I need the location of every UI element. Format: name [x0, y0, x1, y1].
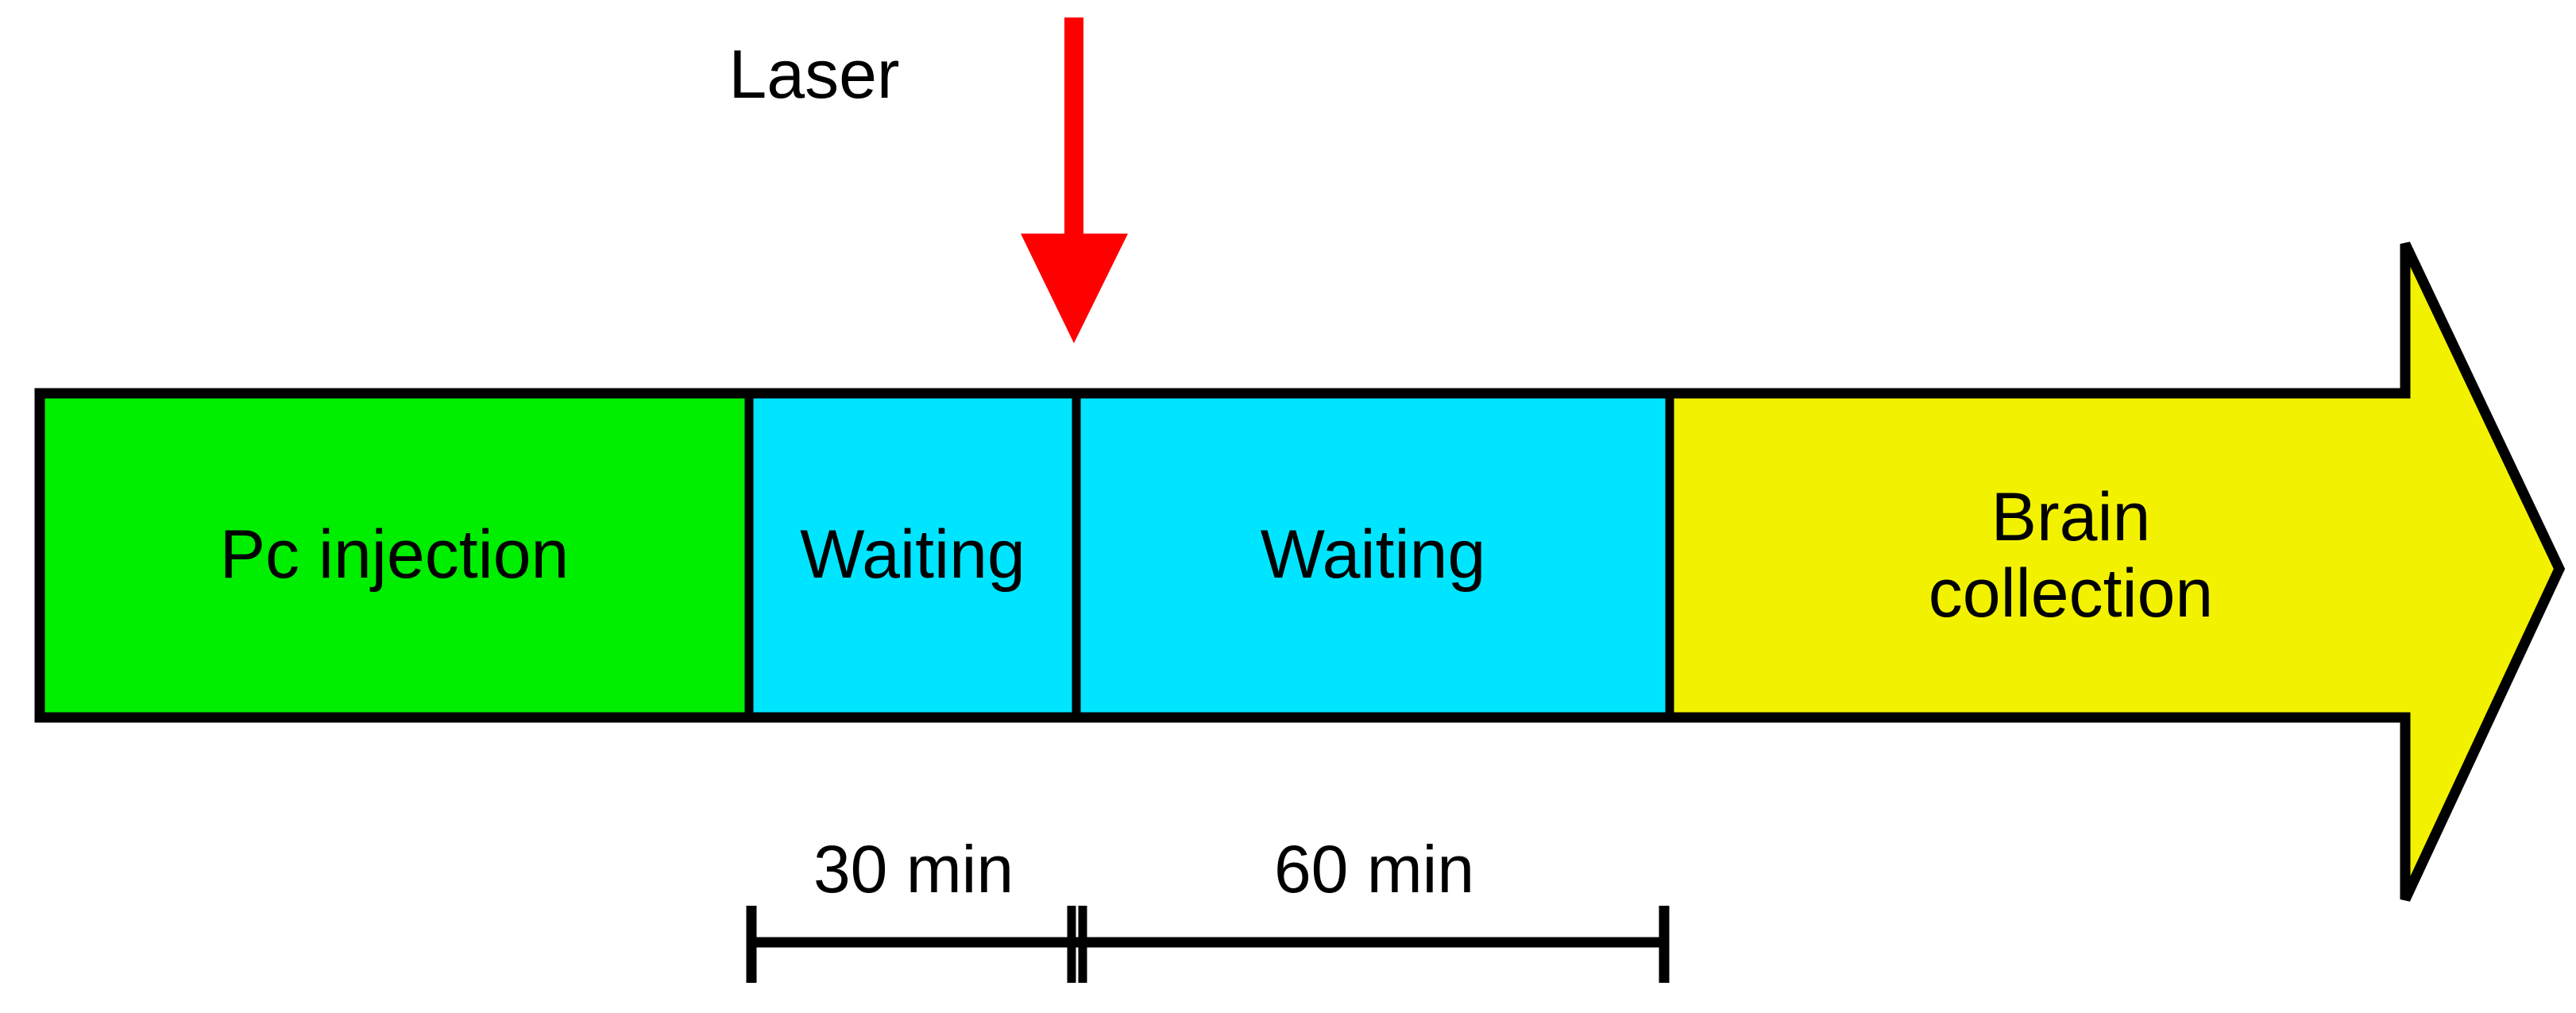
segment-label-brain-collection-line2: collection	[1929, 555, 2214, 632]
segment-waiting-2[interactable]: Waiting	[1076, 393, 1670, 717]
diagram-canvas: Laser Pc injection Waiting Waiting Brain…	[0, 0, 2576, 1013]
laser-arrow-icon	[1021, 17, 1128, 343]
segment-label-pc-injection: Pc injection	[220, 519, 570, 591]
laser-label: Laser	[659, 24, 969, 127]
segment-label-waiting-1: Waiting	[800, 519, 1025, 591]
scale-interval-label-60min: 60 min	[1235, 822, 1513, 918]
segment-brain-collection[interactable]: Brain collection	[1670, 393, 2472, 717]
segment-pc-injection[interactable]: Pc injection	[40, 393, 749, 717]
segment-label-waiting-2: Waiting	[1261, 519, 1486, 591]
scale-interval-label-30min: 30 min	[774, 822, 1052, 918]
segment-waiting-1[interactable]: Waiting	[749, 393, 1076, 717]
segment-label-brain-collection-line1: Brain	[1991, 479, 2151, 555]
